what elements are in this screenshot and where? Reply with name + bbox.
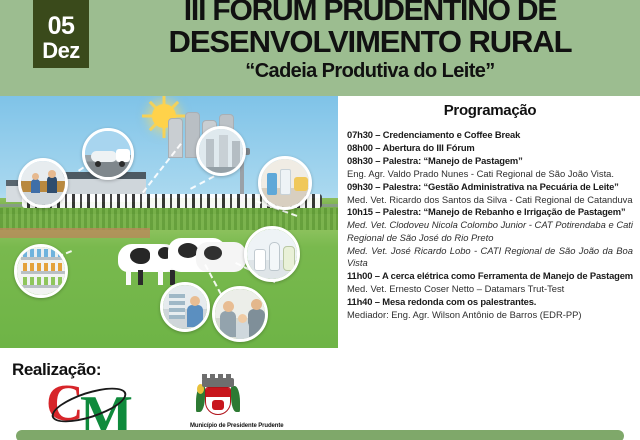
cow-leg — [170, 270, 175, 285]
program-item-speaker: Mediador: Eng. Agr. Wilson Antônio de Ba… — [347, 309, 633, 321]
bubble-milk-tanker-truck — [82, 128, 134, 180]
program-item-title: 10h15 – Palestra: “Manejo de Rebanho e I… — [347, 206, 633, 218]
bubble-processing-plant — [196, 126, 246, 176]
logo-municipio: Município de Presidente Prudente — [190, 378, 246, 438]
program-item-title: 07h30 – Credenciamento e Coffee Break — [347, 129, 633, 141]
cow-secondary — [196, 242, 246, 272]
program-item-title: 11h40 – Mesa redonda com os palestrantes… — [347, 296, 633, 308]
cow-leg — [158, 270, 163, 285]
date-month: Dez — [42, 39, 80, 62]
program-item-title: 08h30 – Palestra: “Manejo de Pastagem” — [347, 155, 633, 167]
bubble-shopper-cheese — [160, 282, 210, 332]
program-item-title: 08h00 – Abertura do III Fórum — [347, 142, 633, 154]
dirt-path — [0, 228, 150, 238]
program-item-title: 11h00 – A cerca elétrica como Ferramenta… — [347, 270, 633, 282]
program-panel: Programação 07h30 – Credenciamento e Cof… — [338, 96, 640, 440]
realizacao-section: Realização: C M Conselho Municipal de De… — [0, 348, 338, 440]
poster-header: 05 Dez III FÓRUM PRUDENTINO DE DESENVOLV… — [0, 0, 640, 96]
bubble-laboratory-workers — [18, 158, 68, 208]
program-schedule-list: 07h30 – Credenciamento e Coffee Break08h… — [347, 129, 633, 321]
program-item-speaker: Med. Vet. Ernesto Coser Netto – Datamars… — [347, 283, 633, 295]
bubble-dairy-bottles — [244, 226, 300, 282]
dairy-supply-chain-image — [0, 96, 338, 348]
cow-leg — [126, 270, 131, 285]
cow-spot — [130, 248, 150, 264]
bubble-supermarket-aisle — [14, 244, 68, 298]
title-line-2: DESENVOLVIMENTO RURAL — [100, 26, 640, 57]
logo-cm: C M Conselho Municipal de Desenvolviment… — [42, 380, 152, 432]
program-item-speaker: Eng. Agr. Valdo Prado Nunes - Cati Regio… — [347, 168, 633, 180]
poster-subtitle: “Cadeia Produtiva do Leite” — [100, 60, 640, 83]
page-title: III FÓRUM PRUDENTINO DE DESENVOLVIMENTO … — [100, 0, 640, 83]
crest-shield-icon — [205, 387, 231, 415]
connector-arrow — [142, 143, 182, 193]
program-item-speaker: Med. Vet. Clodoveu Nicola Colombo Junior… — [347, 219, 633, 244]
program-item-title: 09h30 – Palestra: “Gestão Administrativa… — [347, 181, 633, 193]
title-line-1: III FÓRUM PRUDENTINO DE — [100, 0, 640, 26]
program-title: Programação — [347, 102, 633, 119]
program-item-speaker: Med. Vet. José Ricardo Lobo - CATI Regio… — [347, 245, 633, 270]
bottom-accent-bar — [16, 430, 624, 440]
cow-leg — [138, 270, 143, 285]
bubble-dairy-products-shelf — [258, 156, 312, 210]
crest-leaf-icon — [231, 386, 240, 412]
crest-crown-icon — [202, 378, 234, 387]
coat-of-arms-icon — [198, 378, 238, 422]
bubble-family-consumers — [212, 286, 268, 342]
program-item-speaker: Med. Vet. Ricardo dos Santos da Silva - … — [347, 194, 633, 206]
date-day: 05 — [48, 14, 75, 39]
logo-municipio-caption: Município de Presidente Prudente — [190, 423, 246, 429]
date-badge: 05 Dez — [33, 0, 89, 68]
